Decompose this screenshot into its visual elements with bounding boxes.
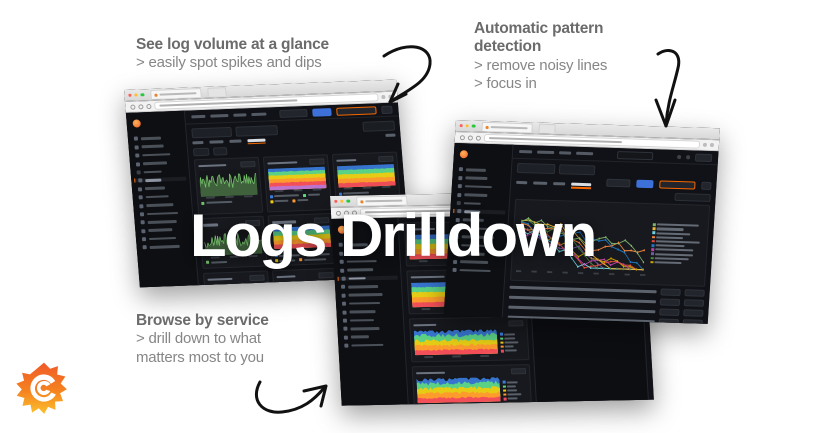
callout-title: See log volume at a glance [136, 36, 329, 54]
compass-icon [457, 193, 461, 197]
sidebar-item[interactable] [131, 143, 183, 149]
volume-spiky-chart [208, 282, 267, 287]
callout-line: > drill down to what [136, 330, 269, 348]
sidebar-item[interactable] [133, 160, 185, 166]
callout-line: > focus in [474, 75, 607, 93]
panel-plot [414, 329, 499, 359]
dashboard-icon [135, 154, 139, 158]
sidebar-item[interactable] [341, 343, 401, 348]
sidebar-item-label [144, 170, 162, 173]
legend-entry[interactable] [503, 380, 527, 383]
sidebar-item-label [351, 336, 369, 339]
sidebar-item-label [349, 310, 375, 313]
grafana-logo-icon[interactable] [132, 119, 141, 127]
sidebar-item-label [350, 319, 374, 322]
panel-header [198, 161, 256, 169]
include-button[interactable] [659, 318, 679, 324]
home-icon [459, 167, 463, 171]
user-menu[interactable] [695, 153, 713, 162]
page-title: Logs Drilldown [190, 206, 595, 266]
panel[interactable] [272, 268, 342, 288]
panel-action-button[interactable] [250, 274, 265, 281]
frontend-icon [343, 319, 347, 323]
sidebar-item-label [465, 185, 492, 188]
zoom-out-button[interactable] [701, 182, 712, 190]
sidebar-item[interactable] [339, 301, 399, 306]
tab-title [490, 126, 527, 129]
legend-entry[interactable] [270, 194, 300, 198]
breadcrumb[interactable] [210, 114, 228, 117]
exclude-button[interactable] [683, 319, 703, 324]
panel-action-button[interactable] [511, 368, 526, 374]
panel-legend[interactable] [502, 376, 528, 404]
panel-plot [416, 377, 501, 406]
exclude-button[interactable] [684, 289, 704, 297]
legend-entry[interactable] [500, 341, 524, 344]
time-range-picker[interactable] [336, 106, 377, 116]
compass-icon [136, 162, 140, 166]
testing-icon [341, 293, 345, 297]
connections-icon [142, 237, 146, 241]
exclude-button[interactable] [683, 309, 703, 317]
browser-tab[interactable] [150, 88, 202, 99]
sidebar-item-label [145, 187, 165, 190]
sidebar-item-label [148, 229, 172, 233]
legend-entry[interactable] [504, 397, 528, 400]
panel-action-button[interactable] [318, 272, 333, 279]
panel-header [413, 320, 523, 328]
sidebar-item-label [349, 277, 366, 280]
maximize-icon[interactable] [472, 124, 475, 127]
tab-title [159, 92, 196, 95]
help-icon[interactable] [686, 155, 690, 159]
administration-icon [344, 344, 348, 348]
callout-line: > remove noisy lines [474, 57, 607, 75]
callout-log-volume: See log volume at a glance > easily spot… [136, 36, 329, 73]
pattern-text [510, 286, 657, 293]
panel-title [267, 161, 297, 165]
breadcrumb[interactable] [559, 151, 571, 154]
chart-legend[interactable] [649, 207, 706, 282]
reload-icon[interactable] [476, 135, 481, 140]
sidebar-item[interactable] [136, 194, 188, 200]
sidebar-item-label [142, 153, 170, 157]
legend-entry[interactable] [503, 389, 527, 392]
new-tab-button[interactable] [538, 124, 556, 134]
breadcrumb[interactable] [576, 152, 593, 155]
search-input[interactable] [193, 148, 210, 157]
curved-arrow-down-left-icon [378, 38, 438, 112]
star-icon [458, 176, 462, 180]
panel-header [416, 368, 526, 376]
callout-browse-by-service: Browse by service > drill down to what m… [136, 312, 269, 367]
tab-fields[interactable] [553, 182, 565, 185]
stacked-spiky-chart [414, 329, 498, 356]
panel-action-button[interactable] [508, 320, 523, 326]
forward-icon[interactable] [138, 104, 143, 109]
legend-entry[interactable] [503, 393, 527, 396]
exclude-button[interactable] [684, 299, 704, 307]
hook-arrow-down-icon [644, 44, 688, 134]
open-in-explore-button[interactable] [362, 121, 395, 132]
close-icon[interactable] [128, 94, 131, 97]
tab-patterns[interactable] [247, 139, 265, 142]
include-button[interactable] [660, 298, 680, 306]
service-panel[interactable] [409, 316, 530, 362]
label-select[interactable] [559, 164, 596, 175]
profiles-icon [139, 195, 143, 199]
infrastructure-icon [342, 302, 346, 306]
legend-entry[interactable] [500, 333, 524, 336]
tab-logs[interactable] [516, 181, 527, 184]
sort-button[interactable] [385, 134, 395, 137]
include-button[interactable] [659, 308, 679, 316]
sidebar-item[interactable] [139, 235, 191, 241]
panel-body [416, 376, 528, 406]
sidebar-item[interactable] [340, 326, 400, 331]
panel-action-button[interactable] [378, 155, 393, 162]
open-in-explore-button[interactable] [674, 193, 711, 202]
panel-title [416, 371, 445, 374]
legend-entry[interactable] [501, 349, 525, 352]
logs-icon [138, 179, 142, 183]
sidebar-item-logs[interactable] [134, 177, 186, 183]
sidebar-item[interactable] [136, 202, 188, 208]
grafana-logo-icon[interactable] [460, 150, 469, 158]
sidebar-item-label [150, 245, 180, 249]
sidebar-item-label [351, 344, 383, 347]
panel[interactable] [203, 270, 273, 287]
callout-title: Browse by service [136, 312, 269, 330]
panel-title [276, 275, 295, 278]
back-icon[interactable] [130, 104, 135, 109]
sidebar-item-label [145, 179, 161, 182]
close-icon[interactable] [460, 124, 463, 127]
tab-logs[interactable] [192, 141, 203, 144]
panel-header [267, 158, 325, 166]
panel-action-button[interactable] [240, 161, 255, 168]
profile-avatar[interactable] [710, 143, 714, 147]
sidebar-item-label [147, 212, 178, 216]
sidebar-item[interactable] [455, 176, 507, 182]
sidebar-item-label [349, 293, 383, 296]
sidebar-item-label [141, 137, 161, 140]
search-bar[interactable] [617, 151, 654, 160]
sidebar-item-label [146, 195, 169, 198]
minimize-icon[interactable] [466, 124, 469, 127]
apps-icon [344, 335, 348, 339]
browser-tab[interactable] [481, 122, 533, 133]
bookmark-icon[interactable] [703, 143, 707, 147]
breadcrumb[interactable] [251, 113, 266, 116]
metrics-icon [136, 170, 140, 174]
sidebar-item-label [459, 269, 490, 273]
sidebar-item[interactable] [339, 309, 399, 314]
administration-icon [143, 246, 147, 250]
alerts-icon [341, 285, 345, 289]
stacked-spiky-chart [416, 377, 500, 404]
refresh-button[interactable] [636, 180, 654, 189]
tab-patterns[interactable] [571, 183, 591, 186]
breadcrumb[interactable] [191, 115, 205, 118]
panel-title [198, 164, 226, 168]
alerts-icon [139, 204, 143, 208]
sidebar-item[interactable] [455, 184, 507, 190]
callout-line: > easily spot spikes and dips [136, 54, 329, 72]
news-icon[interactable] [677, 154, 681, 158]
reload-icon[interactable] [146, 103, 151, 108]
panel-header [276, 272, 334, 280]
sidebar-item-label [348, 285, 378, 288]
sidebar-item[interactable] [132, 152, 184, 158]
maximize-icon[interactable] [141, 93, 144, 96]
panel-header [336, 155, 394, 163]
layout-toggle[interactable] [213, 147, 228, 156]
stacked-area-chart [277, 280, 336, 288]
sidebar-item[interactable] [138, 227, 190, 233]
service-panel[interactable] [412, 364, 533, 406]
home-icon [134, 137, 138, 141]
volume-spiky-chart [199, 169, 258, 197]
sidebar-item-logs[interactable] [338, 276, 398, 281]
datasource-select[interactable] [517, 163, 556, 174]
tab-labels[interactable] [209, 140, 223, 143]
sidebar-item-label [148, 220, 177, 224]
include-button[interactable] [660, 288, 680, 296]
sidebar-item[interactable] [140, 244, 192, 250]
new-tab-button[interactable] [207, 87, 227, 97]
panel-title [336, 159, 356, 162]
traces-icon [138, 187, 142, 191]
panel-header [207, 274, 265, 282]
legend-entry[interactable] [503, 385, 527, 388]
time-range-picker[interactable] [659, 180, 696, 189]
panel-legend[interactable] [500, 328, 526, 356]
sidebar-item-label [350, 327, 379, 330]
application-icon [342, 310, 346, 314]
sidebar-item[interactable] [454, 193, 506, 199]
callout-title: Automatic pattern detection [474, 20, 607, 57]
datasource-select[interactable] [191, 127, 232, 139]
pattern-text [508, 306, 655, 313]
sidebar-item[interactable] [131, 135, 183, 141]
favicon-icon [485, 125, 488, 128]
sidebar-item[interactable] [456, 167, 508, 173]
sidebar-item[interactable] [137, 210, 189, 216]
forward-icon[interactable] [468, 135, 473, 140]
grafana-logo[interactable] [16, 360, 72, 416]
sidebar-item[interactable] [133, 169, 185, 175]
logs-icon [342, 277, 346, 281]
breadcrumb[interactable] [233, 114, 246, 117]
stacked-area-chart [268, 166, 327, 190]
callout-pattern-detection: Automatic pattern detection > remove noi… [474, 20, 607, 93]
frontend-icon [141, 229, 145, 233]
legend-entry[interactable] [500, 337, 524, 340]
minimize-icon[interactable] [135, 93, 138, 96]
panel-title [413, 324, 436, 327]
sidebar-item[interactable] [138, 219, 190, 225]
legend-entry[interactable] [501, 345, 525, 348]
legend-entry[interactable] [303, 193, 320, 197]
sidebar-item-label [464, 194, 487, 197]
hide-controls-button[interactable] [279, 108, 308, 117]
infrastructure-icon [141, 220, 145, 224]
back-icon[interactable] [460, 135, 465, 140]
sidebar-item[interactable] [341, 334, 401, 339]
sidebar-item-label [349, 302, 380, 305]
breadcrumb[interactable] [537, 151, 554, 154]
callout-line: matters most to you [136, 349, 269, 367]
panel-title [411, 275, 445, 278]
sidebar-item[interactable] [340, 318, 400, 323]
sidebar-item[interactable] [135, 185, 187, 191]
panel-title [207, 277, 232, 281]
poster-stage: See log volume at a glance > easily spot… [0, 0, 840, 433]
panel-body [414, 328, 526, 358]
connections-icon [343, 327, 347, 331]
favicon-icon [154, 93, 157, 96]
sidebar-item-label [143, 162, 167, 166]
tab-fields[interactable] [229, 139, 241, 142]
stacked-area-chart [336, 163, 395, 187]
sidebar-item-label [466, 168, 486, 171]
sidebar-item-label [149, 237, 176, 241]
sidebar-item-label [465, 177, 487, 180]
sidebar-item-label [146, 203, 173, 207]
pattern-text [509, 296, 656, 303]
star-icon [134, 145, 138, 149]
refresh-button[interactable] [312, 108, 332, 117]
legend-entry[interactable] [650, 261, 702, 265]
pattern-rows [508, 284, 705, 324]
tab-labels[interactable] [533, 182, 547, 185]
panel-action-button[interactable] [309, 158, 324, 165]
testing-icon [140, 212, 144, 216]
sidebar-item-label [142, 145, 164, 148]
dashboard-icon [458, 184, 462, 188]
curved-arrow-up-right-icon [248, 372, 334, 422]
sidebar-item[interactable] [338, 284, 398, 289]
label-select[interactable] [235, 125, 278, 137]
breadcrumb[interactable] [519, 150, 532, 153]
sidebar-item[interactable] [338, 292, 398, 297]
hide-controls-button[interactable] [606, 179, 631, 188]
